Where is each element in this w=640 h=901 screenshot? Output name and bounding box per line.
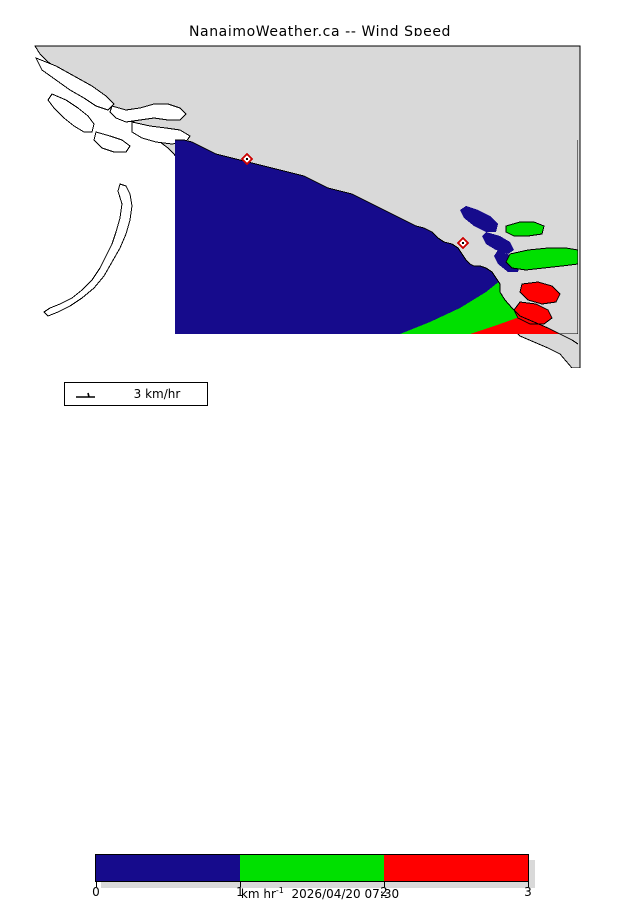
colorbar-units: km hr: [241, 887, 276, 901]
wind-vector-arrow-icon: [75, 392, 97, 400]
colorbar-segment-1-2: [240, 855, 384, 881]
wind-speed-map: [0, 36, 640, 368]
green-island-north: [506, 222, 544, 236]
colorbar-segment-2-3: [384, 855, 528, 881]
colorbar-track: [95, 854, 529, 882]
wind-vector-legend: 3 km/hr: [64, 382, 208, 406]
colorbar-units-exponent: -1: [276, 886, 284, 895]
colorbar-caption: km hr-1 2026/04/20 07:30: [0, 886, 640, 901]
colorbar-segment-0-1: [96, 855, 240, 881]
wind-vector-legend-label: 3 km/hr: [111, 387, 203, 401]
colorbar: 0 1 2 3 km hr-1 2026/04/20 07:30: [0, 425, 640, 480]
colorbar-timestamp: 2026/04/20 07:30: [292, 887, 400, 901]
